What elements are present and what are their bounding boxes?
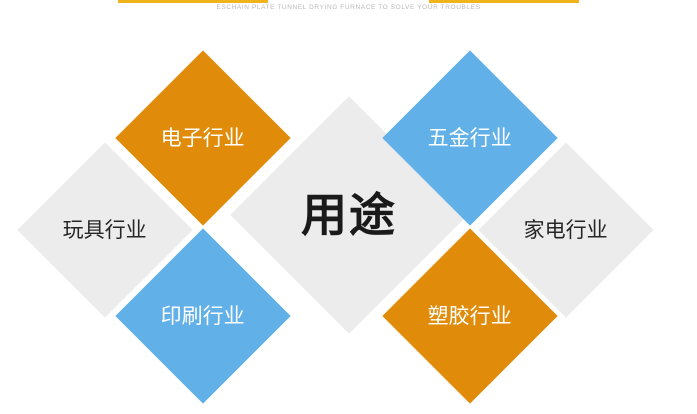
banner-accent-bar-right (429, 0, 579, 3)
diamond-label-toys-industry: 玩具行业 (63, 220, 147, 241)
diamond-label-electronics-industry: 电子行业 (161, 128, 245, 149)
banner-accent-bar-left (118, 0, 268, 3)
diamond-label-plastics-industry: 塑胶行业 (428, 306, 512, 327)
diamond-label-hardware-industry: 五金行业 (428, 128, 512, 149)
diamond-label-printing-industry: 印刷行业 (161, 306, 245, 327)
center-diamond-label: 用途 (301, 192, 397, 238)
top-banner: ESCHAIN PLATE TUNNEL DRYING FURNACE TO S… (0, 0, 697, 14)
diamond-label-home-appliance-industry: 家电行业 (524, 220, 608, 241)
diagram-canvas: ESCHAIN PLATE TUNNEL DRYING FURNACE TO S… (0, 0, 697, 414)
banner-title: ESCHAIN PLATE TUNNEL DRYING FURNACE TO S… (216, 3, 480, 10)
